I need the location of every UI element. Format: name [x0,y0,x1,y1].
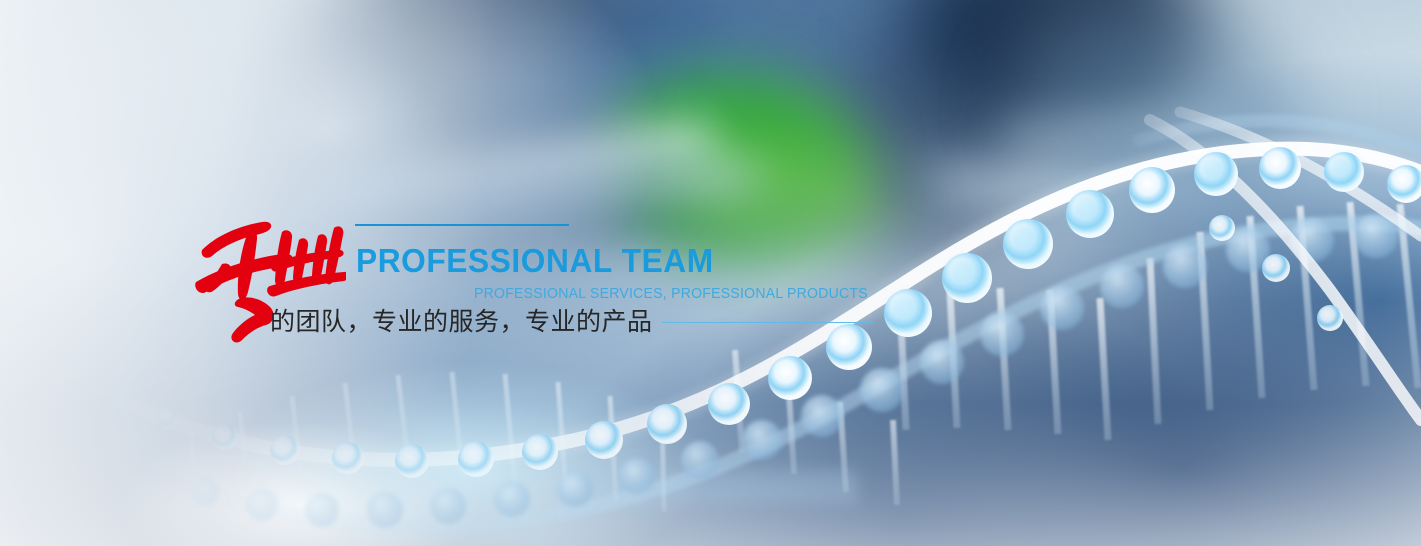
banner-copy-block: PROFESSIONAL TEAM PROFESSIONAL SERVICES,… [0,0,1421,546]
page-subtitle: PROFESSIONAL SERVICES, PROFESSIONAL PROD… [474,286,868,303]
tagline-chinese: 的团队，专业的服务，专业的产品 [270,306,653,338]
decorative-rule-top [355,224,569,226]
hero-banner: PROFESSIONAL TEAM PROFESSIONAL SERVICES,… [0,0,1421,546]
page-title: PROFESSIONAL TEAM [356,243,714,279]
decorative-rule-bottom [662,322,874,323]
